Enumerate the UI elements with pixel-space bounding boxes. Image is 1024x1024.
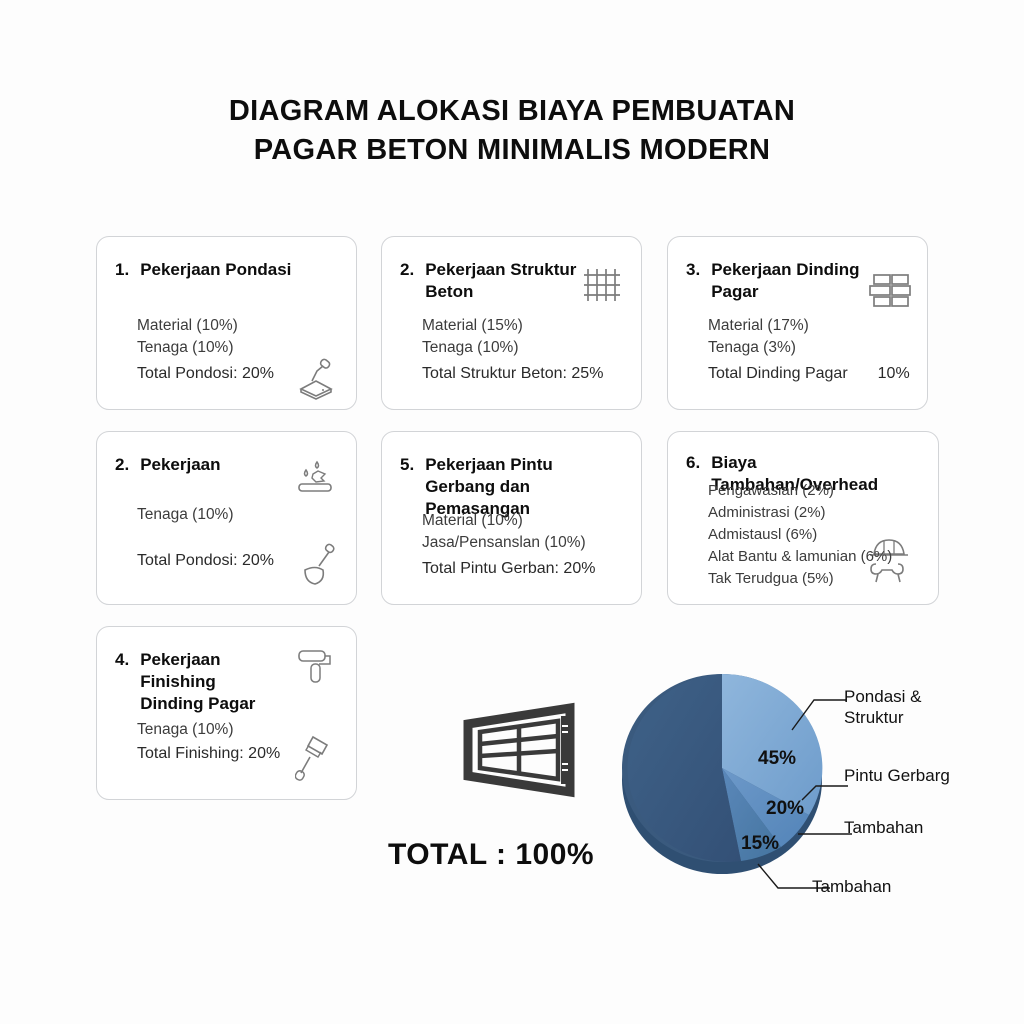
title-line-1: DIAGRAM ALOKASI BIAYA PEMBUATAN — [229, 95, 795, 127]
breakdown-line: Material (10%) — [137, 315, 238, 337]
trowel-icon — [297, 542, 339, 588]
card-heading: 2. Pekerjaan — [115, 454, 221, 476]
breakdown-line: Administrasi (2%) — [708, 502, 892, 524]
title-line-2: PAGAR BETON MINIMALIS MODERN — [0, 131, 1024, 170]
card-title: Pekerjaan Struktur Beton — [425, 259, 600, 303]
card-total: Total Struktur Beton: 25% — [422, 365, 603, 383]
cost-card-pondasi-secondary[interactable]: 2. Pekerjaan Tenaga (10%) Total Pondosi:… — [96, 431, 357, 605]
card-breakdown: Tenaga (10%) — [137, 719, 234, 741]
paint-roller-icon — [295, 647, 339, 701]
pie-label-tambahan-2: Tambahan — [812, 876, 891, 897]
infographic-canvas: DIAGRAM ALOKASI BIAYA PEMBUATAN PAGAR BE… — [0, 0, 1024, 1024]
trowel-icon — [293, 355, 339, 401]
helmet-wrench-icon — [864, 530, 918, 588]
card-number: 3. — [686, 259, 700, 303]
cost-card-finishing[interactable]: 4. Pekerjaan Finishing Dinding Pagar Ten… — [96, 626, 357, 800]
cost-card-overhead[interactable]: 6. Biaya Tambahan/Overhead Pengawasian (… — [667, 431, 939, 605]
card-number: 5. — [400, 454, 414, 519]
card-heading: 3. Pekerjaan Dinding Pagar — [686, 259, 886, 303]
pie-label-pondasi-struktur: Pondasi &Struktur — [844, 686, 922, 729]
breakdown-line: Tenaga (10%) — [137, 719, 234, 741]
total-label: TOTAL : 100% — [388, 838, 594, 872]
breakdown-line: Jasa/Pensanslan (10%) — [422, 532, 586, 554]
pie-value-45: 45% — [758, 748, 796, 770]
pie-value-15: 15% — [741, 833, 779, 855]
card-title: Pekerjaan Finishing Dinding Pagar — [140, 649, 275, 714]
card-number: 2. — [115, 454, 129, 476]
page-title: DIAGRAM ALOKASI BIAYA PEMBUATAN PAGAR BE… — [0, 92, 1024, 169]
card-title: Pekerjaan Dinding Pagar — [711, 259, 886, 303]
cost-card-pintu-gerbang[interactable]: 5. Pekerjaan Pintu Gerbang dan Pemasanga… — [381, 431, 642, 605]
card-breakdown: Material (10%) Tenaga (10%) — [137, 315, 238, 359]
card-breakdown: Material (17%) Tenaga (3%) — [708, 315, 809, 359]
card-heading: 4. Pekerjaan Finishing Dinding Pagar — [115, 649, 275, 714]
breakdown-line: Pengawasian (2%) — [708, 480, 892, 502]
pie-label-tambahan-1: Tambahan — [844, 817, 923, 838]
card-number: 1. — [115, 259, 129, 281]
brick-wall-icon — [868, 271, 916, 311]
cost-allocation-pie-chart: 45% 20% 15% — [618, 668, 838, 883]
breakdown-line: Tenaga (10%) — [137, 504, 234, 526]
paint-roller-angled-icon — [295, 731, 341, 783]
breakdown-line: Material (10%) — [422, 510, 586, 532]
gate-fence-icon — [462, 700, 582, 805]
pie-label-pintu-gerbarg: Pintu Gerbarg — [844, 765, 950, 786]
card-total-label: Total Dinding Pagar — [708, 365, 848, 382]
card-breakdown: Tenaga (10%) — [137, 504, 234, 526]
card-total-percent: 10% — [878, 365, 910, 382]
card-title: Pekerjaan Pondasi — [140, 259, 291, 281]
breakdown-line: Material (15%) — [422, 315, 523, 337]
card-breakdown: Material (15%) Tenaga (10%) — [422, 315, 523, 359]
concrete-pour-icon — [293, 454, 337, 498]
breakdown-line: Tenaga (10%) — [137, 337, 238, 359]
pie-label-line: Pondasi & — [844, 686, 922, 707]
card-total: Total Finishing: 20% — [137, 745, 280, 763]
rebar-grid-icon — [582, 265, 626, 305]
pie-value-20: 20% — [766, 798, 804, 820]
card-heading: 2. Pekerjaan Struktur Beton — [400, 259, 600, 303]
cost-card-pondasi[interactable]: 1. Pekerjaan Pondasi Material (10%) Tena… — [96, 236, 357, 410]
cost-card-struktur-beton[interactable]: 2. Pekerjaan Struktur Beton Material (15… — [381, 236, 642, 410]
breakdown-line: Tenaga (3%) — [708, 337, 809, 359]
card-total: Total Pondosi: 20% — [137, 552, 274, 570]
card-number: 4. — [115, 649, 129, 714]
card-heading: 1. Pekerjaan Pondasi — [115, 259, 291, 281]
cost-card-dinding-pagar[interactable]: 3. Pekerjaan Dinding Pagar Material (17%… — [667, 236, 928, 410]
breakdown-line: Tenaga (10%) — [422, 337, 523, 359]
pie-label-line: Struktur — [844, 707, 922, 728]
card-total: Total Pintu Gerban: 20% — [422, 560, 595, 578]
breakdown-line: Material (17%) — [708, 315, 809, 337]
card-number: 6. — [686, 452, 700, 496]
card-total: Total Dinding Pagar10% — [708, 365, 910, 383]
card-breakdown: Material (10%) Jasa/Pensanslan (10%) — [422, 510, 586, 554]
card-total: Total Pondosi: 20% — [137, 365, 274, 383]
card-number: 2. — [400, 259, 414, 303]
card-title: Pekerjaan — [140, 454, 220, 476]
